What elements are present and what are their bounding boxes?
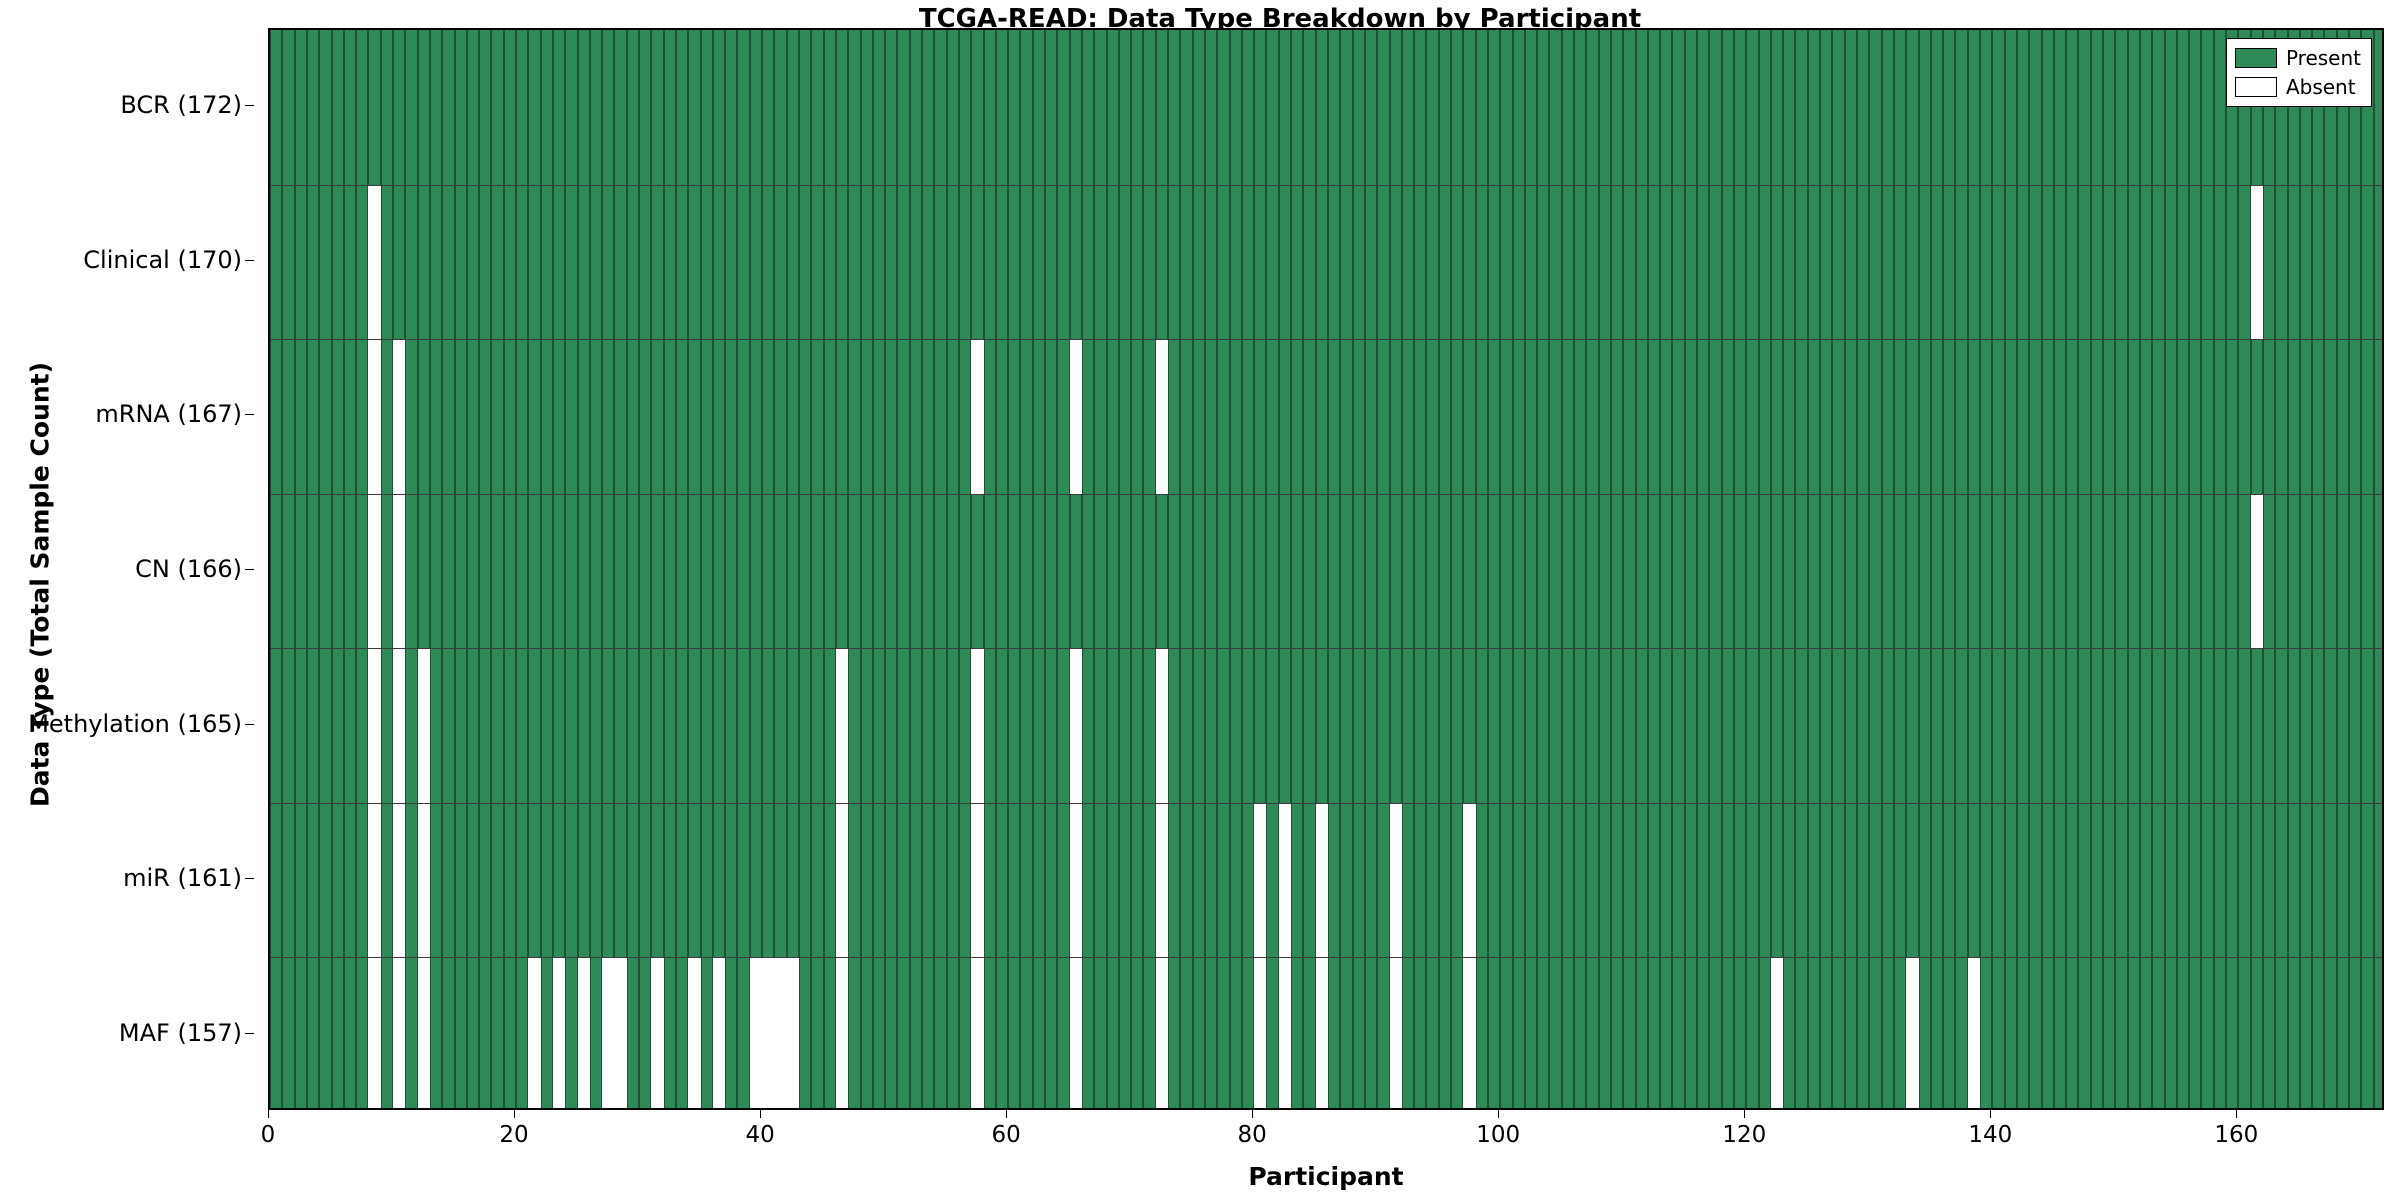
heatmap-cell (295, 803, 307, 958)
heatmap-cell (467, 30, 479, 185)
heatmap-cell (1795, 185, 1807, 340)
heatmap-cell (307, 648, 319, 803)
heatmap-cell (1709, 185, 1721, 340)
heatmap-cell (405, 185, 417, 340)
heatmap-cell (356, 339, 368, 494)
heatmap-cell (725, 339, 737, 494)
heatmap-cell (2091, 957, 2103, 1110)
heatmap-cell (1266, 494, 1278, 649)
heatmap-cell (676, 648, 688, 803)
heatmap-cell (2066, 957, 2078, 1110)
heatmap-cell (2042, 648, 2054, 803)
heatmap-cell (282, 648, 294, 803)
heatmap-cell (2017, 648, 2029, 803)
heatmap-cell (405, 803, 417, 958)
heatmap-cell (528, 494, 540, 649)
heatmap-cell (762, 185, 774, 340)
heatmap-cell (1869, 803, 1881, 958)
heatmap-cell (1980, 803, 1992, 958)
legend-entry-present[interactable]: Present (2235, 46, 2361, 70)
heatmap-cell (1783, 494, 1795, 649)
heatmap-cell (2165, 648, 2177, 803)
heatmap-cell (2005, 30, 2017, 185)
heatmap-cell (2078, 30, 2090, 185)
heatmap-cell (1599, 648, 1611, 803)
heatmap-cell (1672, 185, 1684, 340)
heatmap-cell (2165, 494, 2177, 649)
heatmap-cell (1500, 648, 1512, 803)
heatmap-cell (1119, 185, 1131, 340)
heatmap-cell (861, 494, 873, 649)
heatmap-cell (1623, 185, 1635, 340)
heatmap-cell (1783, 648, 1795, 803)
heatmap-cell (2078, 648, 2090, 803)
heatmap-cell (1365, 30, 1377, 185)
heatmap-cell (270, 648, 282, 803)
heatmap-cell (1611, 185, 1623, 340)
heatmap-cell (1500, 30, 1512, 185)
heatmap-row-mir (270, 803, 2382, 958)
heatmap-cell (971, 339, 983, 494)
heatmap-cell (2300, 185, 2312, 340)
heatmap-cell (984, 957, 996, 1110)
heatmap-cell (836, 648, 848, 803)
heatmap-cell (1722, 803, 1734, 958)
heatmap-cell (1734, 648, 1746, 803)
heatmap-cell (1955, 803, 1967, 958)
heatmap-cell (1636, 30, 1648, 185)
heatmap-cell (1439, 30, 1451, 185)
heatmap-cell (787, 803, 799, 958)
heatmap-cell (2152, 339, 2164, 494)
heatmap-cell (1045, 494, 1057, 649)
heatmap-cell (430, 803, 442, 958)
heatmap-cell (1636, 185, 1648, 340)
heatmap-cell (725, 185, 737, 340)
heatmap-cell (2251, 803, 2263, 958)
heatmap-cell (2337, 957, 2349, 1110)
heatmap-cell (971, 30, 983, 185)
heatmap-cell (676, 957, 688, 1110)
heatmap-cell (319, 339, 331, 494)
heatmap-cell (811, 339, 823, 494)
heatmap-cell (1746, 494, 1758, 649)
heatmap-cell (664, 803, 676, 958)
heatmap-cell (614, 185, 626, 340)
heatmap-cell (1488, 339, 1500, 494)
heatmap-cell (1845, 803, 1857, 958)
heatmap-cell (2312, 803, 2324, 958)
heatmap-cell (2251, 339, 2263, 494)
heatmap-cell (2263, 185, 2275, 340)
heatmap-cell (1832, 30, 1844, 185)
heatmap-cell (1955, 494, 1967, 649)
heatmap-cell (2226, 648, 2238, 803)
heatmap-cell (2029, 30, 2041, 185)
heatmap-cell (934, 803, 946, 958)
heatmap-cell (799, 30, 811, 185)
heatmap-cell (1586, 648, 1598, 803)
heatmap-cell (1230, 803, 1242, 958)
heatmap-cell (627, 494, 639, 649)
heatmap-cell (516, 185, 528, 340)
heatmap-cell (1722, 339, 1734, 494)
heatmap-cell (1390, 30, 1402, 185)
heatmap-cell (1242, 339, 1254, 494)
heatmap-cell (2103, 803, 2115, 958)
heatmap-cell (1648, 803, 1660, 958)
heatmap-cell (2288, 957, 2300, 1110)
heatmap-cell (1057, 957, 1069, 1110)
heatmap-cell (1476, 648, 1488, 803)
heatmap-cell (2066, 494, 2078, 649)
heatmap-cell (1094, 339, 1106, 494)
heatmap-cell (307, 494, 319, 649)
heatmap-cell (1943, 648, 1955, 803)
heatmap-cell (270, 185, 282, 340)
heatmap-cell (282, 339, 294, 494)
heatmap-cell (1968, 494, 1980, 649)
heatmap-cell (1020, 648, 1032, 803)
heatmap-cell (368, 803, 380, 958)
heatmap-cell (319, 803, 331, 958)
heatmap-cell (873, 30, 885, 185)
heatmap-cell (713, 648, 725, 803)
heatmap-cell (1303, 648, 1315, 803)
heatmap-cell (1500, 957, 1512, 1110)
heatmap-cell (1808, 30, 1820, 185)
heatmap-cell (2226, 957, 2238, 1110)
heatmap-cell (1980, 185, 1992, 340)
heatmap-cell (2140, 339, 2152, 494)
heatmap-cell (2029, 185, 2041, 340)
heatmap-cell (2066, 339, 2078, 494)
heatmap-cell (627, 803, 639, 958)
heatmap-cell (873, 957, 885, 1110)
heatmap-cell (873, 803, 885, 958)
heatmap-cell (1303, 339, 1315, 494)
x-tick-label: 160 (2214, 1122, 2258, 1148)
heatmap-cell (319, 185, 331, 340)
heatmap-cell (1008, 957, 1020, 1110)
heatmap-cell (824, 494, 836, 649)
heatmap-cell (2337, 803, 2349, 958)
heatmap-cell (1377, 494, 1389, 649)
heatmap-cell (1968, 957, 1980, 1110)
heatmap-cell (1217, 803, 1229, 958)
heatmap-cell (1402, 803, 1414, 958)
heatmap-cell (1722, 494, 1734, 649)
heatmap-cell (1500, 185, 1512, 340)
heatmap-cell (430, 494, 442, 649)
heatmap-cell (1353, 30, 1365, 185)
heatmap-cell (2017, 957, 2029, 1110)
heatmap-cell (1845, 648, 1857, 803)
heatmap-cell (1746, 957, 1758, 1110)
heatmap-cell (1414, 494, 1426, 649)
heatmap-cell (1697, 803, 1709, 958)
heatmap-cell (1795, 803, 1807, 958)
heatmap-cell (553, 648, 565, 803)
heatmap-cell (528, 30, 540, 185)
heatmap-cell (1426, 803, 1438, 958)
heatmap-cell (2300, 957, 2312, 1110)
heatmap-cell (1291, 185, 1303, 340)
heatmap-cell (2054, 803, 2066, 958)
heatmap-cell (1832, 803, 1844, 958)
heatmap-cell (1869, 648, 1881, 803)
heatmap-cell (1672, 494, 1684, 649)
heatmap-cell (2152, 494, 2164, 649)
heatmap-cell (1623, 803, 1635, 958)
heatmap-cell (2189, 339, 2201, 494)
heatmap-cell (1340, 494, 1352, 649)
heatmap-cell (590, 185, 602, 340)
heatmap-plot-area[interactable]: PresentAbsent (268, 28, 2384, 1110)
heatmap-cell (1611, 648, 1623, 803)
heatmap-cell (787, 648, 799, 803)
heatmap-cell (750, 30, 762, 185)
heatmap-cell (811, 30, 823, 185)
heatmap-cell (2177, 185, 2189, 340)
heatmap-cell (1266, 339, 1278, 494)
heatmap-cell (381, 803, 393, 958)
heatmap-cell (1143, 185, 1155, 340)
heatmap-cell (1230, 957, 1242, 1110)
heatmap-cell (1316, 648, 1328, 803)
heatmap-cell (1402, 494, 1414, 649)
heatmap-cell (1328, 803, 1340, 958)
heatmap-cell (1107, 30, 1119, 185)
heatmap-cell (516, 957, 528, 1110)
heatmap-cell (1611, 803, 1623, 958)
heatmap-cell (774, 957, 786, 1110)
heatmap-cell (2288, 339, 2300, 494)
heatmap-cell (491, 803, 503, 958)
heatmap-cell (418, 803, 430, 958)
heatmap-cell (2140, 494, 2152, 649)
heatmap-cell (1254, 494, 1266, 649)
heatmap-cell (1107, 494, 1119, 649)
heatmap-cell (1266, 803, 1278, 958)
heatmap-cell (1303, 494, 1315, 649)
heatmap-cell (1254, 30, 1266, 185)
heatmap-cell (1426, 957, 1438, 1110)
heatmap-cell (455, 30, 467, 185)
heatmap-cell (2078, 957, 2090, 1110)
heatmap-cell (1943, 339, 1955, 494)
heatmap-cell (1537, 185, 1549, 340)
heatmap-cell (2374, 648, 2384, 803)
heatmap-cell (1869, 957, 1881, 1110)
heatmap-cell (1426, 30, 1438, 185)
heatmap-cell (1882, 494, 1894, 649)
heatmap-cell (713, 803, 725, 958)
heatmap-cell (1205, 339, 1217, 494)
heatmap-cell (861, 185, 873, 340)
heatmap-cell (1254, 648, 1266, 803)
heatmap-cell (2152, 30, 2164, 185)
heatmap-cell (2115, 30, 2127, 185)
heatmap-cell (1193, 339, 1205, 494)
heatmap-cell (430, 957, 442, 1110)
heatmap-cell (2275, 494, 2287, 649)
heatmap-cell (774, 339, 786, 494)
heatmap-cell (430, 339, 442, 494)
heatmap-cell (750, 648, 762, 803)
heatmap-row-mrna (270, 339, 2382, 494)
heatmap-cell (2226, 339, 2238, 494)
heatmap-cell (1513, 957, 1525, 1110)
heatmap-cell (1599, 803, 1611, 958)
x-axis-title: Participant (268, 1162, 2384, 1191)
heatmap-cell (1340, 339, 1352, 494)
heatmap-cell (1205, 185, 1217, 340)
heatmap-cell (1894, 494, 1906, 649)
heatmap-cell (282, 30, 294, 185)
heatmap-cell (1008, 494, 1020, 649)
heatmap-cell (2066, 803, 2078, 958)
y-tick-mark (245, 878, 254, 879)
heatmap-cell (2103, 957, 2115, 1110)
heatmap-cell (1795, 957, 1807, 1110)
heatmap-cell (1746, 30, 1758, 185)
heatmap-cell (1549, 803, 1561, 958)
heatmap-cell (1525, 339, 1537, 494)
heatmap-cell (479, 494, 491, 649)
heatmap-cell (1414, 185, 1426, 340)
heatmap-cell (2128, 339, 2140, 494)
heatmap-cell (528, 803, 540, 958)
heatmap-cell (2140, 648, 2152, 803)
heatmap-cell (922, 185, 934, 340)
heatmap-cell (2091, 30, 2103, 185)
heatmap-cell (282, 185, 294, 340)
heatmap-cell (996, 339, 1008, 494)
heatmap-cell (1476, 494, 1488, 649)
heatmap-cell (602, 30, 614, 185)
heatmap-cell (971, 803, 983, 958)
heatmap-cell (418, 957, 430, 1110)
heatmap-cell (1611, 30, 1623, 185)
heatmap-cell (1549, 494, 1561, 649)
heatmap-cell (2214, 957, 2226, 1110)
heatmap-cell (934, 648, 946, 803)
heatmap-cell (1082, 803, 1094, 958)
heatmap-cell (2091, 648, 2103, 803)
heatmap-cell (1119, 494, 1131, 649)
heatmap-cell (541, 494, 553, 649)
heatmap-cell (1156, 494, 1168, 649)
heatmap-cell (1734, 30, 1746, 185)
heatmap-cell (2005, 185, 2017, 340)
heatmap-cell (664, 30, 676, 185)
heatmap-cell (2029, 957, 2041, 1110)
heatmap-cell (1070, 339, 1082, 494)
heatmap-cell (971, 494, 983, 649)
heatmap-cell (491, 339, 503, 494)
heatmap-cell (2103, 339, 2115, 494)
heatmap-cell (1599, 957, 1611, 1110)
heatmap-cell (1759, 648, 1771, 803)
heatmap-cell (516, 339, 528, 494)
heatmap-cell (737, 648, 749, 803)
heatmap-cell (516, 494, 528, 649)
heatmap-cell (2324, 339, 2336, 494)
heatmap-cell (1820, 339, 1832, 494)
heatmap-cell (1463, 185, 1475, 340)
heatmap-cell (1845, 30, 1857, 185)
heatmap-cell (1353, 957, 1365, 1110)
heatmap-cell (1525, 494, 1537, 649)
heatmap-cell (2361, 185, 2373, 340)
heatmap-cell (2312, 648, 2324, 803)
heatmap-cell (1845, 494, 1857, 649)
heatmap-cell (996, 494, 1008, 649)
heatmap-cell (959, 957, 971, 1110)
heatmap-cell (1919, 185, 1931, 340)
legend-entry-absent[interactable]: Absent (2235, 75, 2361, 99)
heatmap-cell (1316, 30, 1328, 185)
heatmap-cell (356, 185, 368, 340)
heatmap-cell (2029, 648, 2041, 803)
heatmap-cell (1094, 185, 1106, 340)
heatmap-cell (1328, 494, 1340, 649)
heatmap-cell (418, 185, 430, 340)
heatmap-cell (922, 957, 934, 1110)
heatmap-cell (737, 30, 749, 185)
heatmap-row-clinical (270, 185, 2382, 340)
heatmap-cell (1279, 648, 1291, 803)
heatmap-cell (1143, 339, 1155, 494)
heatmap-cell (885, 185, 897, 340)
heatmap-cell (1931, 30, 1943, 185)
heatmap-cell (1266, 30, 1278, 185)
heatmap-cell (1709, 648, 1721, 803)
heatmap-cell (1291, 30, 1303, 185)
chart-legend[interactable]: PresentAbsent (2226, 38, 2372, 107)
heatmap-cell (356, 30, 368, 185)
heatmap-cell (2349, 803, 2361, 958)
heatmap-cell (762, 648, 774, 803)
heatmap-cell (2054, 339, 2066, 494)
heatmap-cell (959, 30, 971, 185)
heatmap-cell (1599, 185, 1611, 340)
heatmap-cell (1500, 339, 1512, 494)
heatmap-cell (1992, 339, 2004, 494)
heatmap-cell (1045, 803, 1057, 958)
heatmap-cell (602, 185, 614, 340)
heatmap-cell (910, 648, 922, 803)
heatmap-cell (2251, 494, 2263, 649)
heatmap-cell (1562, 648, 1574, 803)
heatmap-cell (479, 185, 491, 340)
heatmap-cell (824, 957, 836, 1110)
heatmap-cell (861, 339, 873, 494)
heatmap-cell (381, 648, 393, 803)
heatmap-cell (1537, 648, 1549, 803)
heatmap-cell (1119, 957, 1131, 1110)
heatmap-cell (1919, 339, 1931, 494)
heatmap-cell (1328, 957, 1340, 1110)
heatmap-cell (1992, 185, 2004, 340)
heatmap-cell (1746, 803, 1758, 958)
heatmap-cell (1463, 494, 1475, 649)
heatmap-cell (2214, 648, 2226, 803)
heatmap-cell (2349, 957, 2361, 1110)
heatmap-cell (762, 957, 774, 1110)
heatmap-cell (787, 957, 799, 1110)
